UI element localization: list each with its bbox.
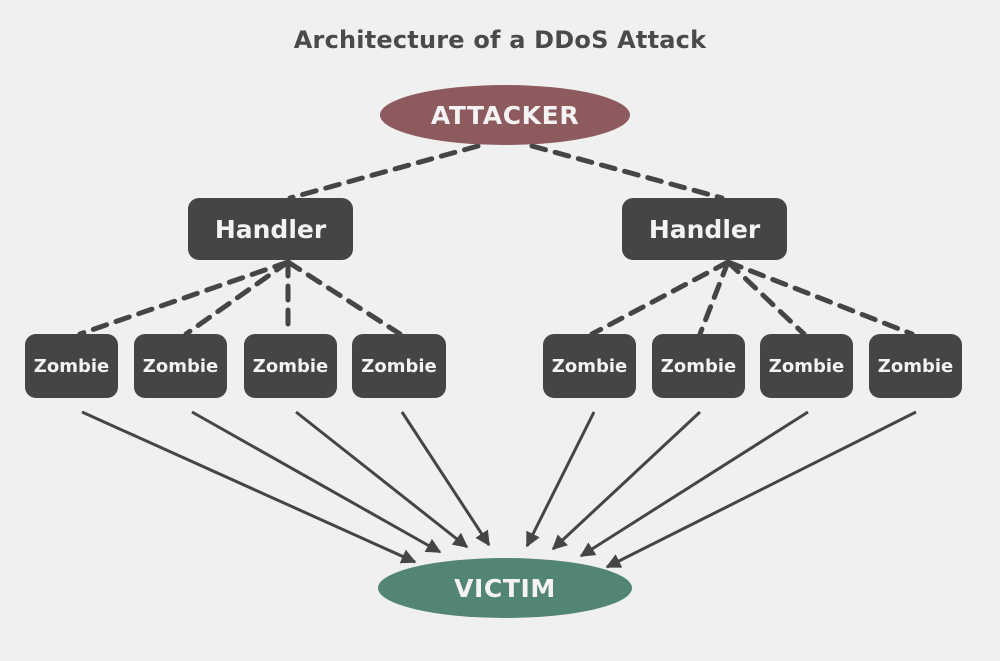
node-zombie-5[interactable]: Zombie <box>543 334 636 398</box>
edge-handler-zombie-8 <box>728 262 912 334</box>
node-zombie-label: Zombie <box>661 356 736 377</box>
edges-attacker-to-handlers <box>290 146 722 198</box>
node-zombie-8[interactable]: Zombie <box>869 334 962 398</box>
edge-handler-zombie-7 <box>728 262 804 334</box>
node-zombie-label: Zombie <box>34 356 109 377</box>
node-victim[interactable]: VICTIM <box>378 558 632 618</box>
edge-zombie-victim-8 <box>607 412 916 567</box>
node-zombie-label: Zombie <box>361 356 436 377</box>
edge-zombie-victim-6 <box>553 412 700 549</box>
node-zombie-6[interactable]: Zombie <box>652 334 745 398</box>
edges-zombies-to-victim <box>82 412 916 567</box>
edge-zombie-victim-4 <box>402 412 489 545</box>
edge-handler-zombie-6 <box>700 262 728 334</box>
edge-zombie-victim-1 <box>82 412 415 562</box>
edge-zombie-victim-7 <box>581 412 808 556</box>
node-handler-label: Handler <box>649 215 760 244</box>
node-attacker[interactable]: ATTACKER <box>380 85 630 145</box>
node-zombie-7[interactable]: Zombie <box>760 334 853 398</box>
edge-handler-zombie-2 <box>186 262 288 334</box>
node-handler-label: Handler <box>215 215 326 244</box>
node-zombie-label: Zombie <box>769 356 844 377</box>
node-zombie-label: Zombie <box>878 356 953 377</box>
node-handler-2[interactable]: Handler <box>622 198 787 260</box>
node-zombie-1[interactable]: Zombie <box>25 334 118 398</box>
ddos-architecture-diagram: Architecture of a DDoS Attack ATTACKER H… <box>0 0 1000 661</box>
edge-attacker-handler-1 <box>290 146 478 198</box>
edge-zombie-victim-2 <box>192 412 440 552</box>
node-zombie-2[interactable]: Zombie <box>134 334 227 398</box>
node-zombie-3[interactable]: Zombie <box>244 334 337 398</box>
node-zombie-label: Zombie <box>143 356 218 377</box>
node-zombie-4[interactable]: Zombie <box>352 334 446 398</box>
edge-zombie-victim-3 <box>296 412 467 547</box>
node-zombie-label: Zombie <box>253 356 328 377</box>
node-handler-1[interactable]: Handler <box>188 198 353 260</box>
edge-zombie-victim-5 <box>527 412 594 546</box>
edge-handler-zombie-1 <box>80 262 288 334</box>
edge-handler-zombie-4 <box>288 262 400 334</box>
node-zombie-label: Zombie <box>552 356 627 377</box>
edge-attacker-handler-2 <box>532 146 722 198</box>
page-title: Architecture of a DDoS Attack <box>0 26 1000 54</box>
edge-handler-zombie-5 <box>592 262 728 334</box>
edges-handler-to-zombies <box>80 262 912 334</box>
